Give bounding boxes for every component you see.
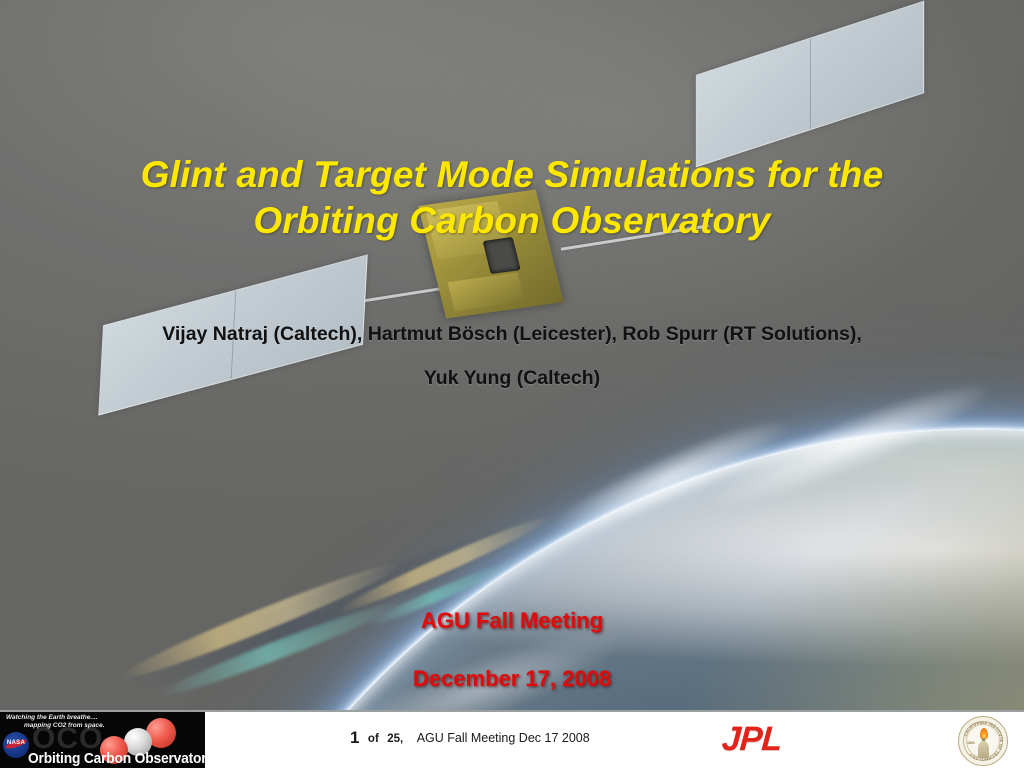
oco-full-name: Orbiting Carbon Observatory [28, 751, 205, 767]
slide-footer: OCO Watching the Earth breathe.... mappi… [0, 710, 1024, 768]
meeting-info: AGU Fall Meeting December 17, 2008 [0, 592, 1024, 708]
author-line-1: Vijay Natraj (Caltech), Hartmut Bösch (L… [0, 312, 1024, 356]
oco-logo-banner: OCO Watching the Earth breathe.... mappi… [0, 712, 205, 768]
nasa-logo-icon: NASA [3, 732, 29, 758]
slide-title-line-2: Orbiting Carbon Observatory [0, 198, 1024, 244]
meeting-name: AGU Fall Meeting [0, 592, 1024, 650]
panel-seam [810, 38, 811, 129]
caltech-seal-logo: CALIFORNIA INSTITUTE OF TECHNOLOGY 1891 [958, 716, 1008, 766]
slide-title: Glint and Target Mode Simulations for th… [0, 152, 1024, 244]
page-number: 1 [350, 728, 359, 747]
presentation-slide: Glint and Target Mode Simulations for th… [0, 0, 1024, 768]
author-list: Vijay Natraj (Caltech), Hartmut Bösch (L… [0, 312, 1024, 400]
slide-title-line-1: Glint and Target Mode Simulations for th… [0, 152, 1024, 198]
meeting-date: December 17, 2008 [0, 650, 1024, 708]
page-footer-text: 1 of 25, AGU Fall Meeting Dec 17 2008 [350, 728, 590, 748]
page-of-label: of [368, 733, 379, 745]
oco-tagline-line-1: Watching the Earth breathe.... [6, 714, 98, 721]
footer-meeting-text: AGU Fall Meeting Dec 17 2008 [417, 731, 590, 745]
satellite-foil-facet [448, 272, 525, 311]
nasa-wordmark: NASA [3, 740, 29, 746]
jpl-logo: JPL [721, 722, 783, 756]
author-line-2: Yuk Yung (Caltech) [0, 356, 1024, 400]
seal-figure-icon [978, 741, 989, 758]
seal-year: 1891 [967, 741, 975, 745]
page-total: 25, [387, 733, 403, 745]
